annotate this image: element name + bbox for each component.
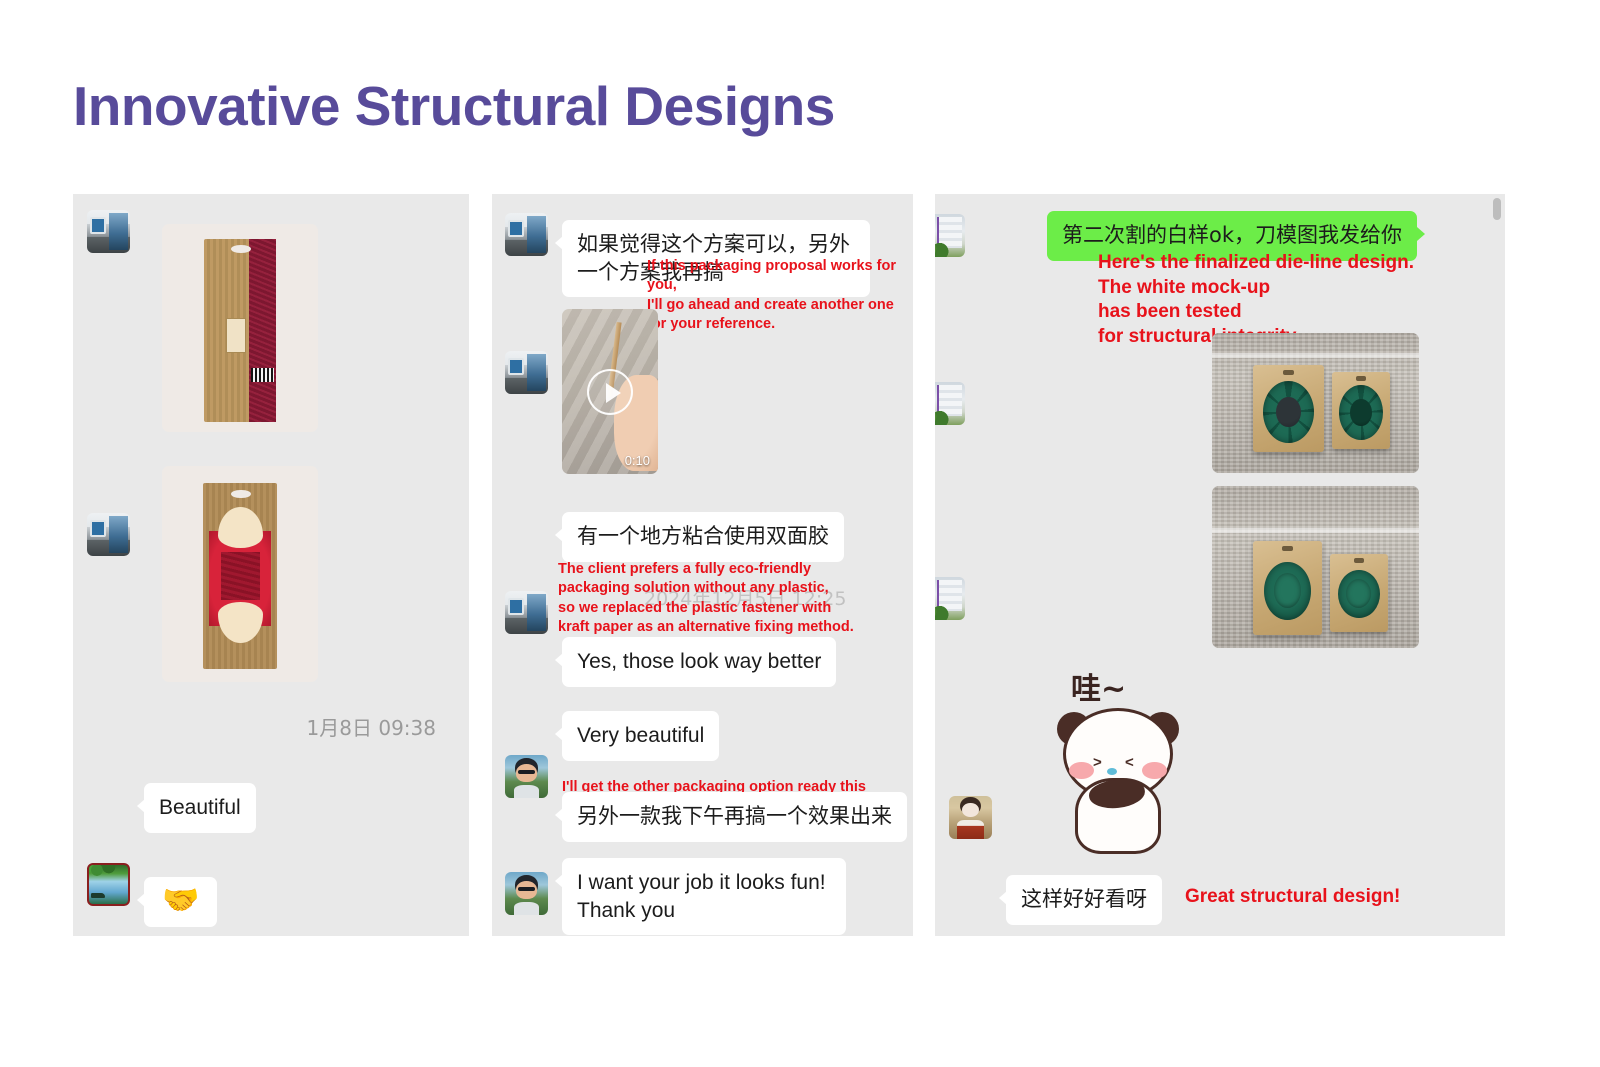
bubble-tail bbox=[137, 893, 145, 907]
fabric-seam bbox=[1212, 353, 1419, 358]
message-text: I want your job it looks fun! Thank you bbox=[577, 871, 826, 922]
annotation-proposal: If this packaging proposal works for you… bbox=[647, 257, 913, 334]
kraft-package-small bbox=[1330, 554, 1388, 632]
product-photo-kraft-packs-ridged[interactable] bbox=[1212, 486, 1419, 648]
bubble-tail bbox=[1417, 227, 1425, 241]
printing-press-avatar[interactable] bbox=[505, 213, 548, 256]
building-avatar[interactable] bbox=[935, 382, 965, 425]
message-bubble-handshake-emoji[interactable]: 🤝 bbox=[144, 877, 217, 927]
disc-hub bbox=[1276, 397, 1300, 427]
disc-ridge bbox=[1274, 573, 1302, 608]
panda-eye-right: < bbox=[1125, 754, 1136, 765]
barcode bbox=[251, 368, 274, 383]
message-bubble-afternoon-sample[interactable]: 另外一款我下午再搞一个效果出来 bbox=[562, 792, 907, 842]
message-text: 另外一款我下午再搞一个效果出来 bbox=[577, 804, 892, 828]
panda-cheek-left bbox=[1069, 762, 1094, 779]
message-text: 这样好好看呀 bbox=[1021, 887, 1147, 911]
building-avatar[interactable] bbox=[935, 577, 965, 620]
sunglasses bbox=[518, 887, 535, 891]
message-text: 第二次割的白样ok，刀模图我发给你 bbox=[1062, 223, 1402, 247]
green-disc bbox=[1338, 570, 1380, 618]
message-bubble-very-beautiful[interactable]: Very beautiful bbox=[562, 711, 719, 761]
message-bubble-double-sided-tape[interactable]: 有一个地方粘合使用双面胶 bbox=[562, 512, 844, 562]
printing-press-avatar[interactable] bbox=[505, 591, 548, 634]
kraft-package-small bbox=[1332, 372, 1390, 449]
scrollbar-thumb[interactable] bbox=[1493, 198, 1501, 220]
red-label-band bbox=[249, 239, 276, 422]
fabric-seam bbox=[1212, 528, 1419, 533]
message-bubble-looks-great[interactable]: 这样好好看呀 bbox=[1006, 875, 1162, 925]
annotation-great-design: Great structural design! bbox=[1185, 885, 1400, 910]
bubble-tail bbox=[555, 528, 563, 542]
message-bubble-beautiful[interactable]: Beautiful bbox=[144, 783, 256, 833]
message-text: Yes, those look way better bbox=[577, 650, 821, 673]
hang-slot bbox=[1283, 370, 1294, 375]
product-photo-kraft-blister[interactable] bbox=[162, 224, 318, 432]
play-icon[interactable] bbox=[587, 369, 633, 415]
message-text: Very beautiful bbox=[577, 724, 704, 747]
man-sunglasses-avatar[interactable] bbox=[505, 755, 548, 798]
green-disc bbox=[1339, 385, 1383, 440]
paper-tab bbox=[226, 318, 246, 353]
sunglasses bbox=[518, 770, 535, 774]
bubble-tail bbox=[999, 891, 1007, 905]
annotation-eco-friendly: The client prefers a fully eco-friendly … bbox=[558, 560, 854, 637]
printing-press-avatar[interactable] bbox=[87, 513, 130, 556]
bubble-tail bbox=[137, 799, 145, 813]
hang-slot bbox=[1354, 558, 1363, 563]
panda-icon: > < bbox=[1055, 706, 1181, 856]
video-duration: 0:10 bbox=[625, 453, 650, 468]
kraft-package-large bbox=[1253, 541, 1321, 635]
video-message-thumbnail[interactable]: 0:10 bbox=[562, 309, 658, 474]
building-avatar[interactable] bbox=[935, 214, 965, 257]
hang-slot bbox=[1356, 376, 1365, 381]
hang-slot bbox=[1282, 546, 1293, 552]
message-bubble-want-your-job[interactable]: I want your job it looks fun! Thank you bbox=[562, 858, 846, 935]
message-text: Beautiful bbox=[159, 796, 241, 819]
panda-cheek-right bbox=[1142, 762, 1167, 779]
bubble-tail bbox=[555, 808, 563, 822]
bubble-tail bbox=[555, 653, 563, 667]
panda-eye-left: > bbox=[1093, 754, 1104, 765]
message-text: 有一个地方粘合使用双面胶 bbox=[577, 524, 829, 548]
bubble-tail bbox=[555, 236, 563, 250]
handshake-icon: 🤝 bbox=[162, 884, 199, 917]
sticker-text: 哇~ bbox=[1071, 664, 1126, 708]
message-bubble-look-better[interactable]: Yes, those look way better bbox=[562, 637, 836, 687]
red-label-band bbox=[221, 552, 260, 600]
product-photo-heart-pack[interactable] bbox=[162, 466, 318, 682]
hang-hole bbox=[231, 245, 251, 253]
page-title: Innovative Structural Designs bbox=[73, 74, 835, 138]
bubble-tail bbox=[555, 727, 563, 741]
girl-autumn-avatar[interactable] bbox=[949, 796, 992, 839]
green-disc bbox=[1263, 381, 1314, 443]
kraft-package-large bbox=[1253, 365, 1323, 452]
chat-timestamp: 1月8日 09:38 bbox=[307, 712, 436, 741]
panda-snout bbox=[1107, 768, 1117, 775]
chat-panel-1[interactable]: 1月8日 09:38 Beautiful 🤝 bbox=[73, 194, 469, 936]
product-photo-kraft-packs-spoked[interactable] bbox=[1212, 333, 1419, 473]
panda-sticker-message[interactable]: 哇~ > < bbox=[1055, 664, 1185, 864]
printing-press-avatar[interactable] bbox=[87, 210, 130, 253]
chat-panel-2[interactable]: 如果觉得这个方案可以，另外一个方案我再搞 If this packaging p… bbox=[492, 194, 913, 936]
lake-landscape-avatar[interactable] bbox=[87, 863, 130, 906]
disc-hub bbox=[1350, 399, 1371, 426]
green-disc bbox=[1264, 562, 1310, 620]
chat-panel-3[interactable]: 第二次割的白样ok，刀模图我发给你 Here's the finalized d… bbox=[935, 194, 1505, 936]
disc-ridge bbox=[1346, 579, 1371, 608]
man-sunglasses-avatar[interactable] bbox=[505, 872, 548, 915]
bubble-tail bbox=[555, 874, 563, 888]
printing-press-avatar[interactable] bbox=[505, 351, 548, 394]
